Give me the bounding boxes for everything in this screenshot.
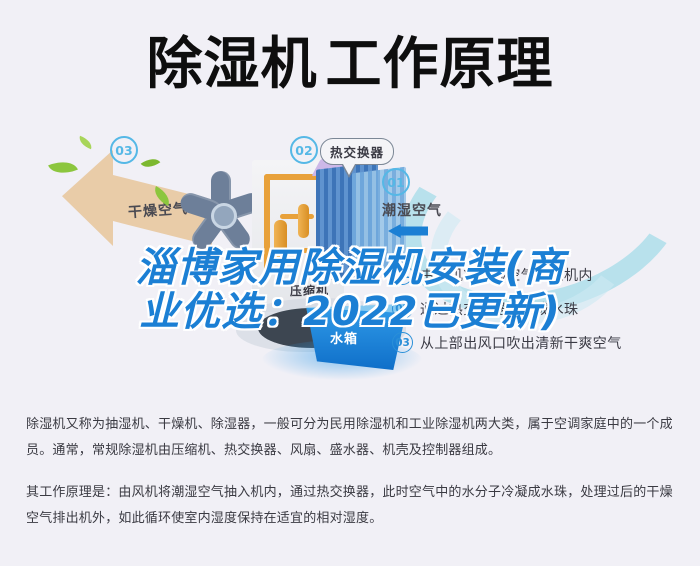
fan-hub <box>211 203 237 229</box>
dehumidifier-diagram: 干燥空气 水箱 压 <box>0 112 700 404</box>
step-caption-item: 01 由风机将潮湿空气抽入机内 <box>392 264 692 285</box>
humid-air-label: 潮湿空气 <box>382 200 442 220</box>
receiver-cylinder <box>298 204 309 238</box>
body-copy: 除湿机又称为抽湿机、干燥机、除湿器，一般可分为民用除湿机和工业除湿机两大类，属于… <box>26 412 678 532</box>
leaf-icon <box>141 154 161 172</box>
title-part-b: 工作原理 <box>326 32 554 97</box>
step-caption-list: 01 由风机将潮湿空气抽入机内 02 通过热交换器冷凝成水珠 03 从上部出风口… <box>392 264 692 366</box>
compressor-label: 压缩机 <box>290 282 329 299</box>
step-number-badge: 01 <box>392 264 413 285</box>
step-caption-text: 由风机将潮湿空气抽入机内 <box>420 265 593 285</box>
title-text: 除湿机工作原理 <box>147 37 554 93</box>
step-number-badge: 03 <box>392 332 413 353</box>
leaf-icon <box>48 156 78 180</box>
body-paragraph-2: 其工作原理是：由风机将潮湿空气抽入机内，通过热交换器，此时空气中的水分子冷凝成水… <box>26 480 678 532</box>
page-root: 除湿机工作原理 干燥空气 <box>0 0 700 566</box>
page-title: 除湿机工作原理 <box>0 26 700 104</box>
step-caption-text: 从上部出风口吹出清新干爽空气 <box>420 333 622 353</box>
diagram-badge-01: 01 <box>382 168 410 196</box>
receiver-cylinder <box>274 220 287 264</box>
pipe-segment <box>264 174 270 278</box>
leaf-icon <box>77 136 94 150</box>
body-paragraph-1: 除湿机又称为抽湿机、干燥机、除湿器，一般可分为民用除湿机和工业除湿机两大类，属于… <box>26 412 678 464</box>
water-tank-label: 水箱 <box>330 328 358 347</box>
diagram-badge-02: 02 <box>290 136 318 164</box>
step-caption-text: 通过热交换器冷凝成水珠 <box>420 299 578 319</box>
step-number-badge: 02 <box>392 298 413 319</box>
step-caption-item: 03 从上部出风口吹出清新干爽空气 <box>392 332 692 353</box>
diagram-badge-03: 03 <box>110 136 138 164</box>
title-part-a: 除湿机 <box>147 32 318 97</box>
heat-exchanger-callout: 热交换器 <box>320 138 394 165</box>
step-caption-item: 02 通过热交换器冷凝成水珠 <box>392 298 692 319</box>
